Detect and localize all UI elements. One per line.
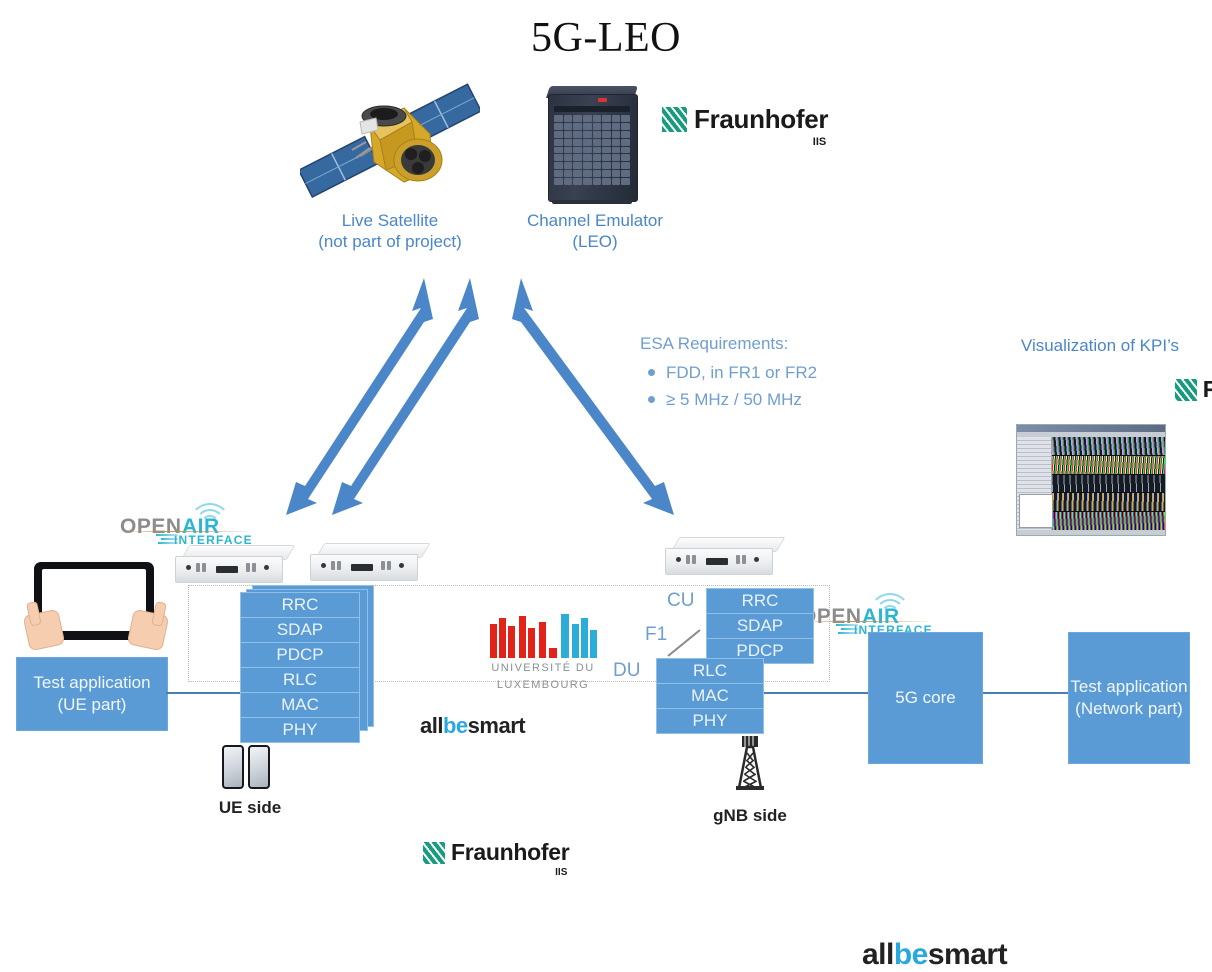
- fraunhofer-logo-middle: Fraunhofer IIS: [423, 839, 569, 866]
- allbesmart-logo-bottom: allbesmart: [862, 938, 1212, 972]
- kpi-plot-row: [1052, 493, 1165, 511]
- fraunhofer-mark-icon: [423, 842, 445, 864]
- connector-ue-testapp-to-stack: [166, 692, 242, 694]
- allbesmart-be-text: be: [443, 713, 468, 738]
- f1-interface-line: [666, 628, 704, 658]
- unilu-subtitle-line1: UNIVERSITÉ DU: [488, 662, 598, 675]
- du-stack-layer[interactable]: RLC: [656, 658, 764, 683]
- hand-right-icon: [127, 609, 170, 652]
- ue-stack-layer[interactable]: MAC: [240, 692, 360, 717]
- du-protocol-stack: RLC MAC PHY: [656, 658, 764, 734]
- emulator-caption-line1: Channel Emulator: [495, 210, 695, 231]
- emulator-label-strip: [554, 106, 630, 112]
- connector-5gcore-to-testapp: [981, 692, 1069, 694]
- allbesmart-all-text: all: [420, 713, 443, 738]
- channel-emulator-icon: [540, 82, 650, 204]
- fraunhofer-logo-kpi: Fraunhofer IIS: [1175, 376, 1212, 403]
- kpi-plot-row: [1052, 512, 1165, 530]
- satellite-caption-line2: (not part of project): [250, 231, 530, 252]
- fraunhofer-wordmark: Fraunhofer: [451, 839, 569, 866]
- satellite-icon: [300, 78, 480, 203]
- allbesmart-smart-text: smart: [468, 713, 525, 738]
- unilu-subtitle-line2: LUXEMBOURG: [488, 679, 598, 692]
- usrp-radio-icon: [665, 537, 781, 577]
- esa-bullet-item: FDD, in FR1 or FR2: [666, 359, 940, 386]
- esa-heading: ESA Requirements:: [640, 330, 940, 357]
- test-application-network-box[interactable]: Test application (Network part): [1068, 632, 1190, 764]
- openairinterface-logo-ue: OPEN AIR INTERFACE: [120, 503, 250, 549]
- fraunhofer-mark-icon: [662, 107, 687, 132]
- cu-stack-layer[interactable]: RRC: [706, 588, 814, 613]
- du-stack-layer[interactable]: PHY: [656, 708, 764, 734]
- cu-protocol-stack: RRC SDAP PDCP: [706, 588, 814, 664]
- ue-stack-layer[interactable]: PHY: [240, 717, 360, 743]
- du-label: DU: [613, 660, 640, 682]
- emulator-caption: Channel Emulator (LEO): [495, 210, 695, 252]
- ue-stack-layer[interactable]: SDAP: [240, 617, 360, 642]
- connector-gnb-to-5gcore: [764, 692, 870, 694]
- emulator-foot: [552, 200, 632, 204]
- allbesmart-smart-text: smart: [928, 938, 1007, 971]
- fraunhofer-logo-top: Fraunhofer IIS: [662, 104, 828, 135]
- usrp-radio-icon: [175, 545, 291, 585]
- test-application-ue-box[interactable]: Test application (UE part): [16, 657, 168, 731]
- tablet-device-icon: [20, 560, 170, 655]
- unilu-wordmark-bars: [488, 612, 598, 658]
- kpi-plot-row: [1052, 475, 1165, 493]
- cu-stack-layer[interactable]: SDAP: [706, 613, 814, 638]
- usrp-front-panel: [665, 548, 773, 575]
- allbesmart-all-text: all: [862, 938, 894, 971]
- phone-icon: [248, 745, 270, 789]
- kpi-inset-panel: [1019, 494, 1053, 528]
- esa-bullet-item: ≥ 5 MHz / 50 MHz: [666, 386, 940, 413]
- kpi-plot-row: [1052, 456, 1165, 474]
- fraunhofer-mark-icon: [1175, 379, 1197, 401]
- emulator-led: [598, 98, 607, 102]
- satellite-caption: Live Satellite (not part of project): [250, 210, 530, 252]
- cu-label: CU: [667, 590, 694, 612]
- ue-stack-layer[interactable]: RLC: [240, 667, 360, 692]
- usrp-front-panel: [175, 556, 283, 583]
- allbesmart-be-text: be: [894, 938, 928, 971]
- emulator-port-grid: [554, 115, 630, 185]
- fraunhofer-wordmark: Fraunhofer: [1203, 376, 1212, 403]
- arrow-satellite-to-ue-1: [286, 278, 433, 515]
- gnb-side-label: gNB side: [690, 806, 810, 826]
- esa-bullet-list: FDD, in FR1 or FR2 ≥ 5 MHz / 50 MHz: [640, 359, 940, 413]
- fraunhofer-wordmark: Fraunhofer: [694, 104, 828, 135]
- 5g-core-box[interactable]: 5G core: [868, 632, 983, 764]
- phone-icon: [222, 745, 244, 789]
- satellite-caption-line1: Live Satellite: [250, 210, 530, 231]
- cell-tower-icon: [730, 736, 770, 794]
- arrow-satellite-to-ue-2: [332, 278, 479, 515]
- usrp-front-panel: [310, 554, 418, 581]
- ue-stack-layer[interactable]: PDCP: [240, 642, 360, 667]
- kpi-window-statusbar: [1017, 530, 1165, 535]
- usrp-radio-icon: [310, 543, 426, 583]
- kpi-plot-row: [1052, 437, 1165, 455]
- kpi-visualization-label: Visualization of KPI’s: [985, 335, 1212, 356]
- du-stack-layer[interactable]: MAC: [656, 683, 764, 708]
- emulator-caption-line2: (LEO): [495, 231, 695, 252]
- kpi-dashboard-screenshot[interactable]: [1016, 424, 1166, 536]
- unilu-logo: UNIVERSITÉ DU LUXEMBOURG: [488, 612, 598, 692]
- fraunhofer-institute-tag: IIS: [813, 136, 826, 148]
- f1-interface-label: F1: [645, 624, 667, 646]
- kpi-window-titlebar: [1017, 425, 1165, 432]
- ue-protocol-stack: RRC SDAP PDCP RLC MAC PHY: [240, 592, 360, 743]
- ue-side-label: UE side: [190, 798, 310, 818]
- fraunhofer-institute-tag: IIS: [555, 867, 567, 878]
- oai-underline: [120, 531, 248, 532]
- hand-left-icon: [23, 609, 66, 652]
- ue-phones-icon: [222, 745, 282, 789]
- ue-stack-layer[interactable]: RRC: [240, 592, 360, 617]
- esa-requirements: ESA Requirements: FDD, in FR1 or FR2 ≥ 5…: [640, 330, 940, 413]
- page-title: 5G-LEO: [0, 14, 1212, 62]
- kpi-plot-area: [1052, 437, 1165, 530]
